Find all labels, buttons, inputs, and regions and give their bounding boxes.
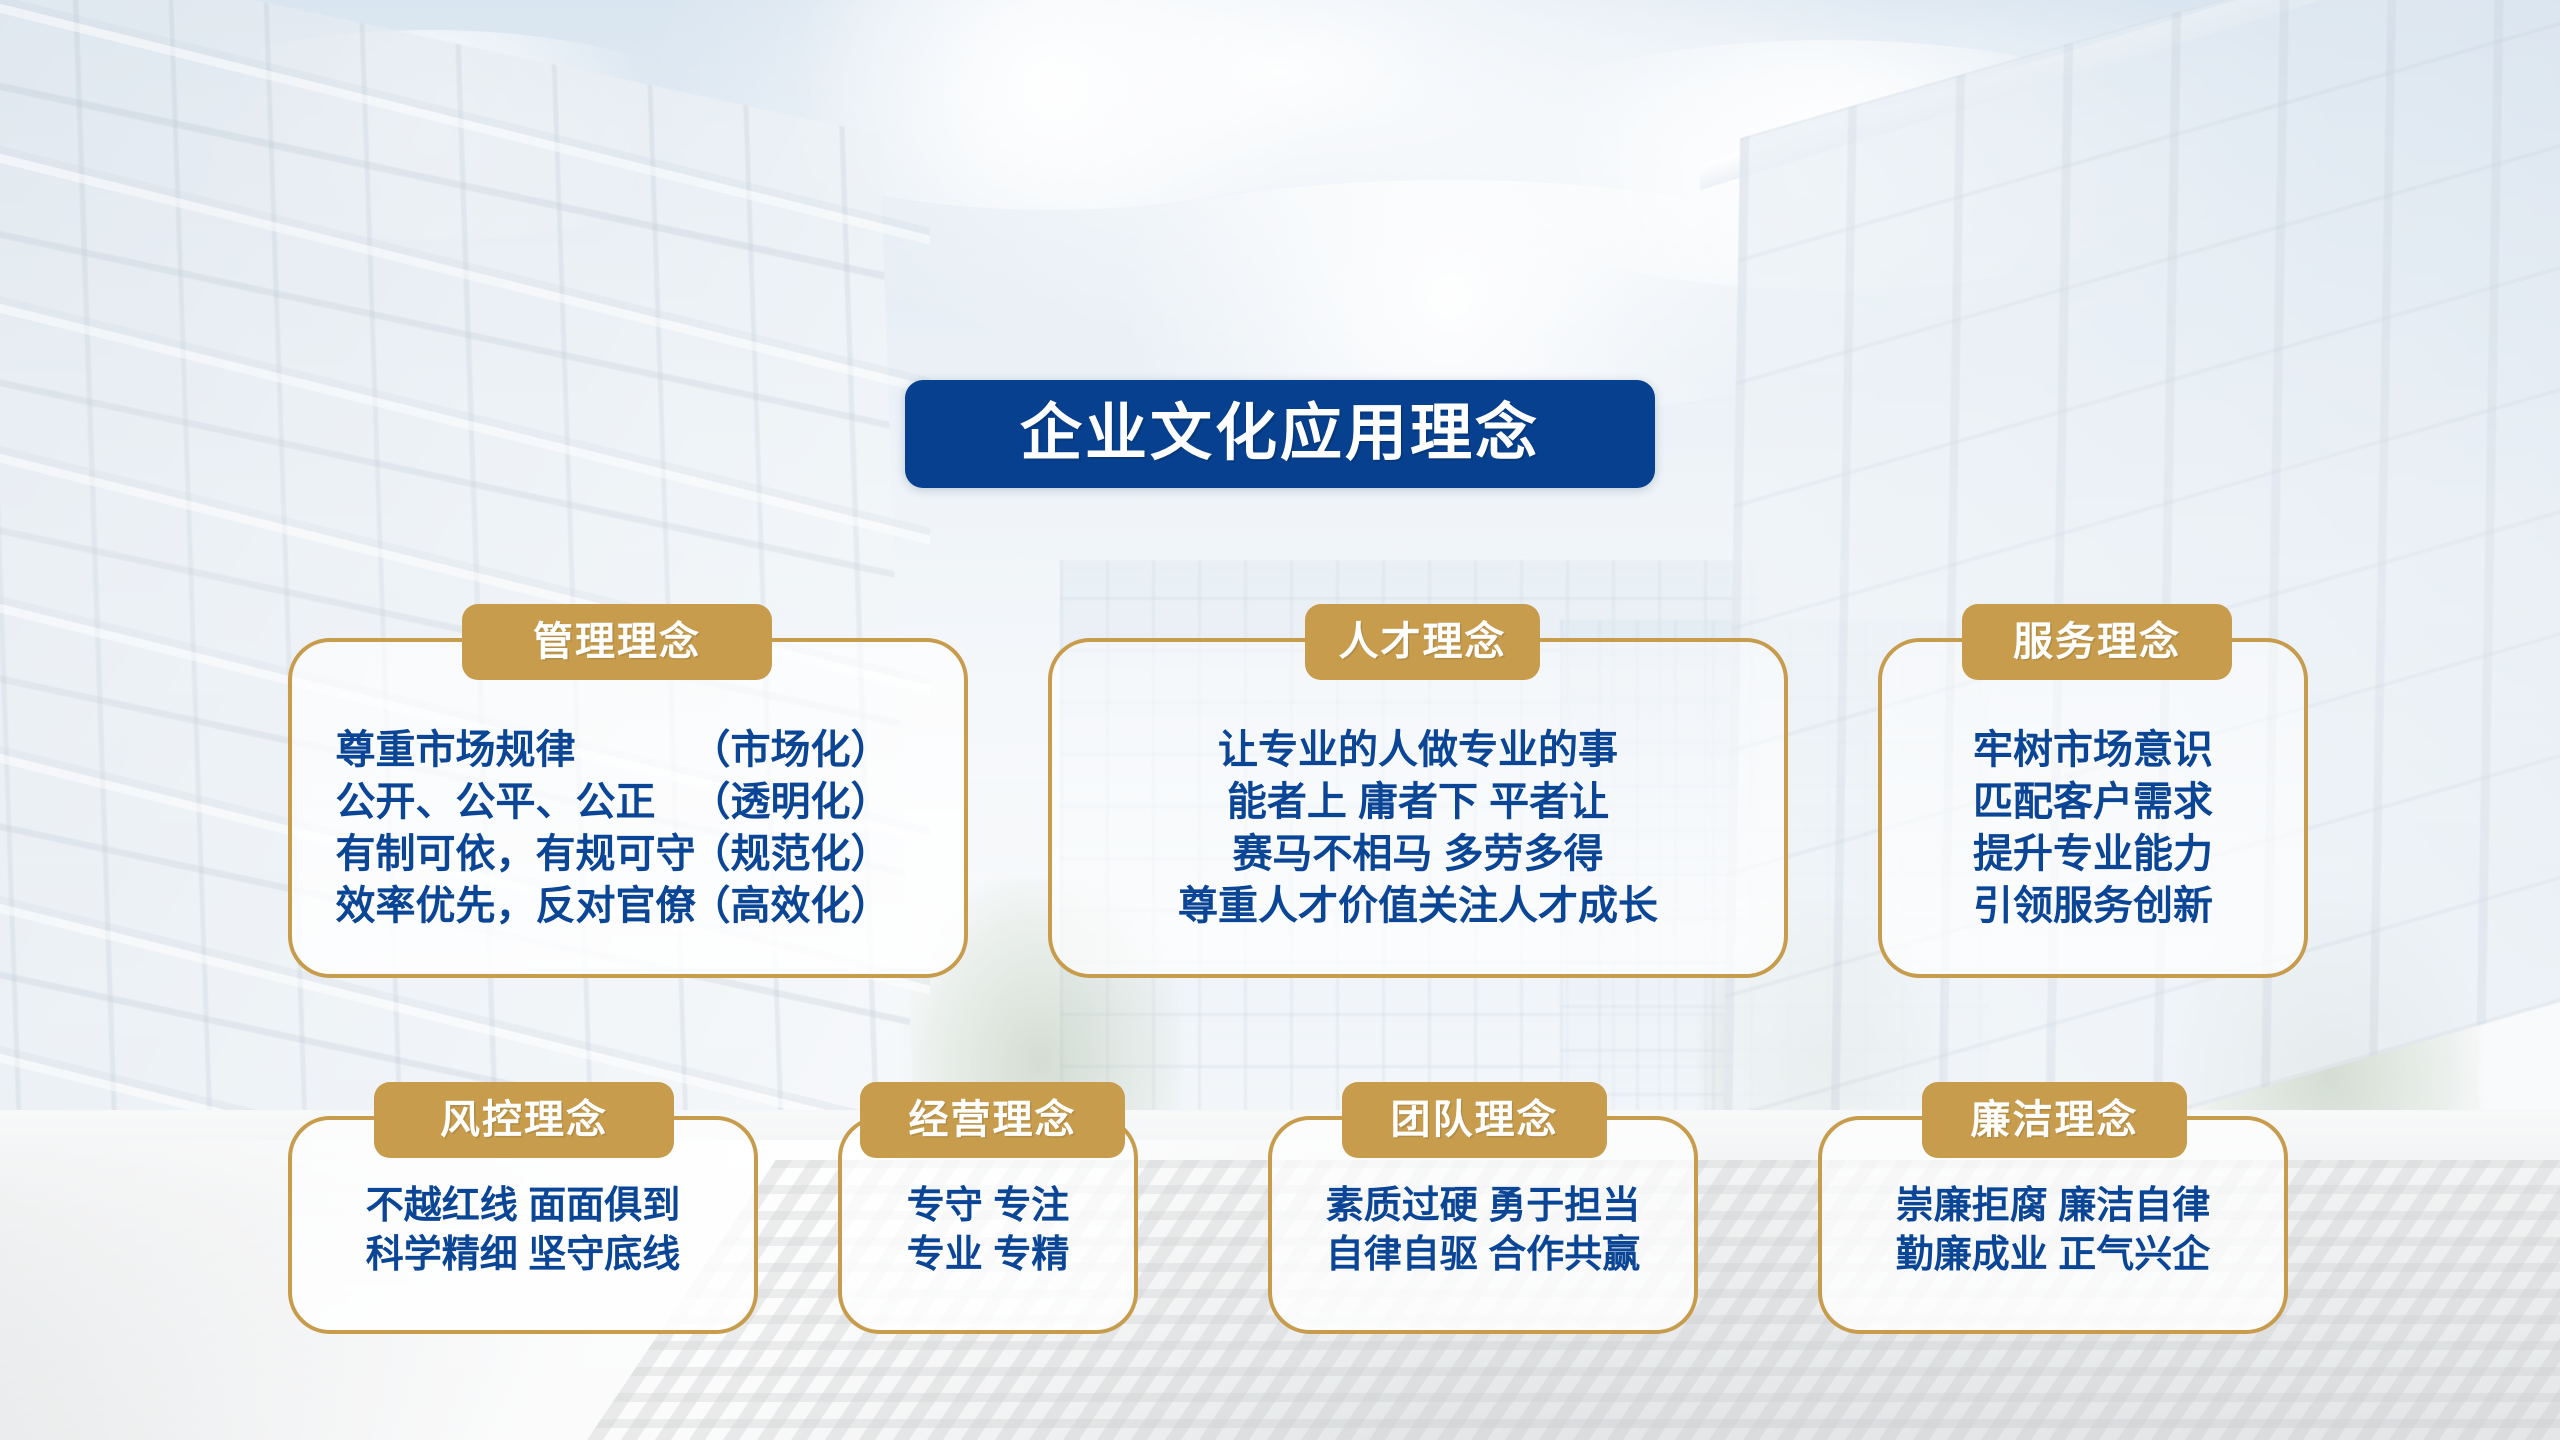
card-line: 崇廉拒腐 廉洁自律 — [1896, 1182, 2211, 1231]
card-business[interactable]: 经营理念 专守 专注 专业 专精 — [838, 1116, 1138, 1334]
row-right: （规范化） — [691, 828, 921, 880]
card-line: 专业 专精 — [907, 1231, 1070, 1280]
card-tab-team: 团队理念 — [1342, 1082, 1607, 1158]
card-management[interactable]: 管理理念 尊重市场规律 （市场化） 公开、公平、公正 （透明化） 有制可依，有规… — [288, 638, 968, 978]
row-left: 有制可依，有规可守 — [336, 828, 691, 880]
card-line: 引领服务创新 — [1973, 880, 2213, 932]
card-tab-risk-control: 风控理念 — [374, 1082, 674, 1158]
row-left: 公开、公平、公正 — [336, 776, 691, 828]
card-line: 科学精细 坚守底线 — [366, 1231, 681, 1280]
card-line: 不越红线 面面俱到 — [366, 1182, 681, 1231]
card-line: 勤廉成业 正气兴企 — [1896, 1231, 2211, 1280]
card-tab-label: 团队理念 — [1391, 1100, 1559, 1140]
card-line: 匹配客户需求 — [1973, 776, 2213, 828]
card-line: 素质过硬 勇于担当 — [1326, 1182, 1641, 1231]
card-tab-integrity: 廉洁理念 — [1922, 1082, 2187, 1158]
card-tab-label: 人才理念 — [1339, 622, 1507, 662]
card-line: 让专业的人做专业的事 — [1178, 724, 1658, 776]
card-integrity[interactable]: 廉洁理念 崇廉拒腐 廉洁自律 勤廉成业 正气兴企 — [1818, 1116, 2288, 1334]
card-tab-label: 经营理念 — [909, 1100, 1077, 1140]
card-row: 公开、公平、公正 （透明化） — [336, 776, 921, 828]
card-row: 尊重市场规律 （市场化） — [336, 724, 921, 776]
card-body-management: 尊重市场规律 （市场化） 公开、公平、公正 （透明化） 有制可依，有规可守 （规… — [336, 724, 921, 932]
row-right: （透明化） — [691, 776, 921, 828]
card-tab-management: 管理理念 — [462, 604, 772, 680]
card-line: 专守 专注 — [907, 1182, 1070, 1231]
card-body-service: 牢树市场意识 匹配客户需求 提升专业能力 引领服务创新 — [1973, 724, 2213, 932]
row-right: （市场化） — [691, 724, 921, 776]
card-tab-label: 服务理念 — [2013, 622, 2181, 662]
card-tab-business: 经营理念 — [860, 1082, 1125, 1158]
card-line: 提升专业能力 — [1973, 828, 2213, 880]
card-line: 赛马不相马 多劳多得 — [1178, 828, 1658, 880]
card-body-team: 素质过硬 勇于担当 自律自驱 合作共赢 — [1326, 1182, 1641, 1281]
card-body-talent: 让专业的人做专业的事 能者上 庸者下 平者让 赛马不相马 多劳多得 尊重人才价值… — [1178, 724, 1658, 932]
card-row: 效率优先，反对官僚 （高效化） — [336, 880, 921, 932]
row-left: 尊重市场规律 — [336, 724, 691, 776]
card-row: 有制可依，有规可守 （规范化） — [336, 828, 921, 880]
card-body-business: 专守 专注 专业 专精 — [907, 1182, 1070, 1281]
card-team[interactable]: 团队理念 素质过硬 勇于担当 自律自驱 合作共赢 — [1268, 1116, 1698, 1334]
card-body-risk-control: 不越红线 面面俱到 科学精细 坚守底线 — [366, 1182, 681, 1281]
card-talent[interactable]: 人才理念 让专业的人做专业的事 能者上 庸者下 平者让 赛马不相马 多劳多得 尊… — [1048, 638, 1788, 978]
page-title-banner: 企业文化应用理念 — [905, 380, 1655, 488]
page-title: 企业文化应用理念 — [1020, 403, 1540, 465]
row-right: （高效化） — [691, 880, 921, 932]
card-tab-talent: 人才理念 — [1305, 604, 1540, 680]
card-body-integrity: 崇廉拒腐 廉洁自律 勤廉成业 正气兴企 — [1896, 1182, 2211, 1281]
poster-stage: 企业文化应用理念 管理理念 尊重市场规律 （市场化） 公开、公平、公正 （透明化… — [0, 0, 2560, 1440]
card-tab-service: 服务理念 — [1962, 604, 2232, 680]
card-tab-label: 管理理念 — [533, 622, 701, 662]
card-risk-control[interactable]: 风控理念 不越红线 面面俱到 科学精细 坚守底线 — [288, 1116, 758, 1334]
card-line: 自律自驱 合作共赢 — [1326, 1231, 1641, 1280]
card-service[interactable]: 服务理念 牢树市场意识 匹配客户需求 提升专业能力 引领服务创新 — [1878, 638, 2308, 978]
card-line: 能者上 庸者下 平者让 — [1178, 776, 1658, 828]
card-line: 牢树市场意识 — [1973, 724, 2213, 776]
card-line: 尊重人才价值关注人才成长 — [1178, 880, 1658, 932]
row-left: 效率优先，反对官僚 — [336, 880, 691, 932]
card-tab-label: 风控理念 — [440, 1100, 608, 1140]
card-tab-label: 廉洁理念 — [1971, 1100, 2139, 1140]
